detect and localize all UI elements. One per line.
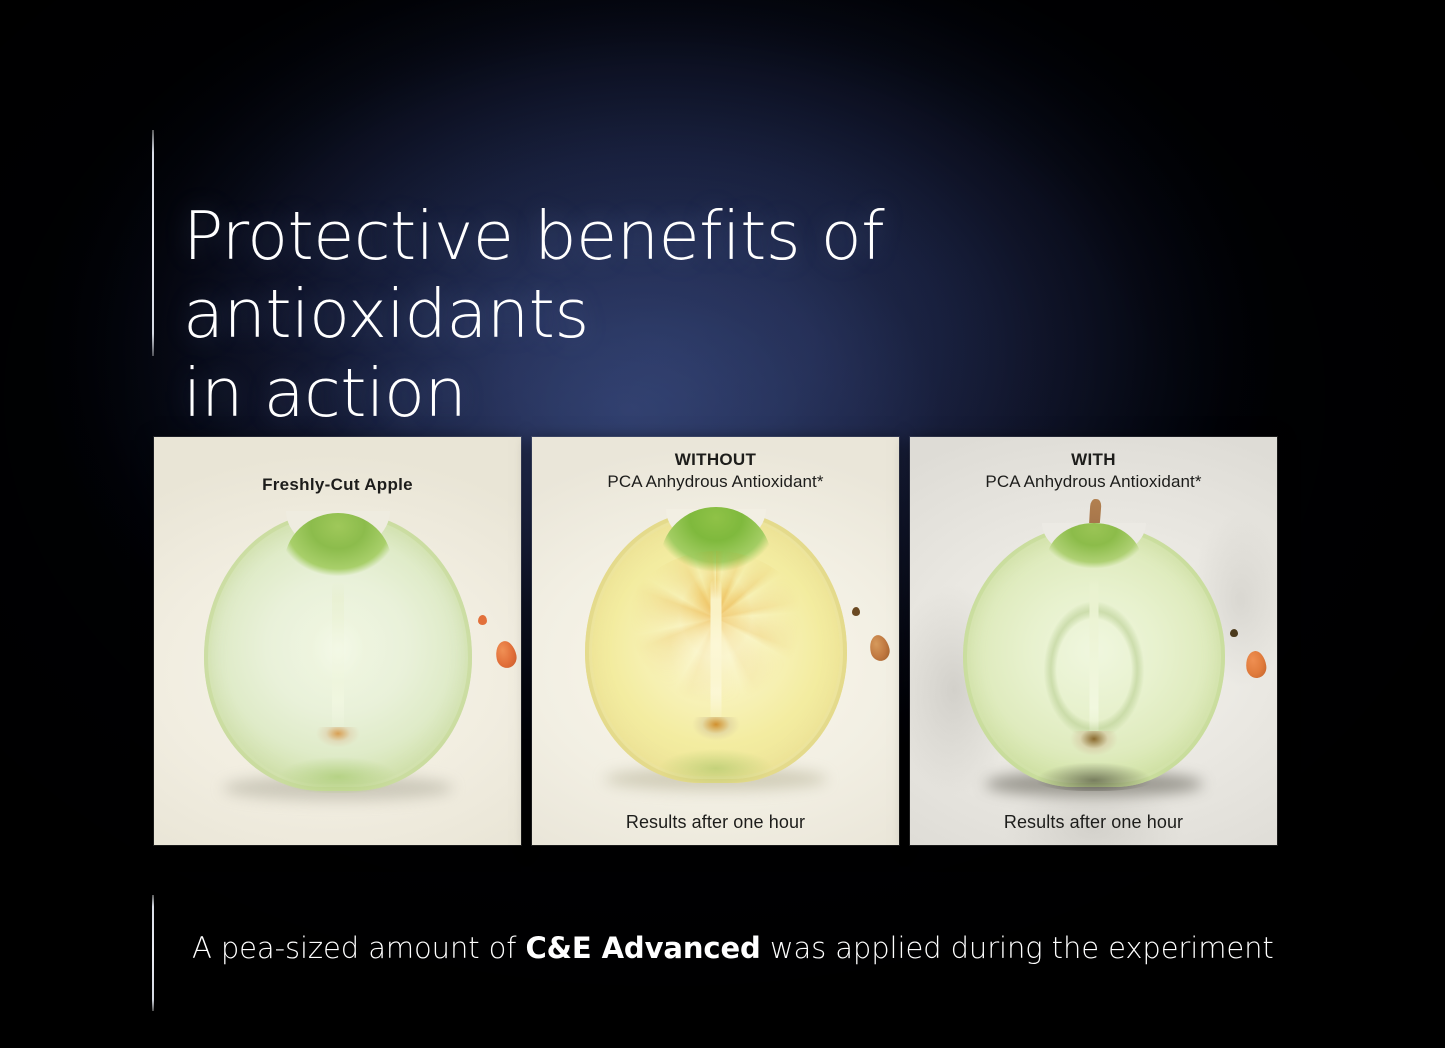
panel-heading: WITH PCA Anhydrous Antioxidant*	[910, 449, 1277, 493]
panel-heading-sub: PCA Anhydrous Antioxidant*	[910, 471, 1277, 493]
comparison-panel-row: Freshly-Cut Apple	[154, 437, 1277, 845]
apple-seed-main	[867, 633, 892, 663]
apple-core-chamber	[290, 591, 386, 709]
panel-heading-sub: PCA Anhydrous Antioxidant*	[532, 471, 899, 493]
apple-image-protected	[910, 493, 1277, 803]
panel-footnote: Results after one hour	[532, 812, 899, 833]
apple-bottom-shade	[1018, 743, 1170, 791]
panel-fresh-apple: Freshly-Cut Apple	[154, 437, 521, 845]
footer-text-after: was applied during the experiment	[761, 931, 1274, 965]
panel-without-antioxidant: WITHOUT PCA Anhydrous Antioxidant*	[532, 437, 899, 845]
apple-seed-main	[1244, 650, 1268, 680]
apple-image-oxidized	[532, 495, 899, 805]
footer-text-before: A pea-sized amount of	[192, 931, 525, 965]
apple-seed-small	[1230, 629, 1238, 637]
footer-caption: A pea-sized amount of C&E Advanced was a…	[192, 931, 1352, 965]
panel-heading-main: WITH	[910, 449, 1277, 471]
slide-canvas: Protective benefits of antioxidants in a…	[0, 0, 1445, 1048]
apple-seed-small	[478, 615, 487, 625]
panel-footnote: Results after one hour	[910, 812, 1277, 833]
panel-heading: Freshly-Cut Apple	[154, 474, 521, 496]
panel-heading: WITHOUT PCA Anhydrous Antioxidant*	[532, 449, 899, 493]
apple-image-fresh	[154, 499, 521, 809]
apple-bottom-blush	[263, 739, 413, 793]
apple-seed-small	[852, 607, 860, 616]
panel-heading-main: Freshly-Cut Apple	[154, 474, 521, 496]
title-accent-rule	[152, 130, 154, 356]
apple-bottom-blush	[643, 731, 789, 783]
panel-with-antioxidant: WITH PCA Anhydrous Antioxidant*	[910, 437, 1277, 845]
panel-heading-main: WITHOUT	[532, 449, 899, 471]
apple-core-chamber	[670, 589, 762, 701]
page-title: Protective benefits of antioxidants in a…	[183, 197, 1303, 432]
apple-core-vein	[1089, 577, 1098, 737]
footer-accent-rule	[152, 895, 154, 1011]
footer-product-name: C&E Advanced	[525, 931, 760, 965]
apple-seed-main	[493, 639, 518, 670]
